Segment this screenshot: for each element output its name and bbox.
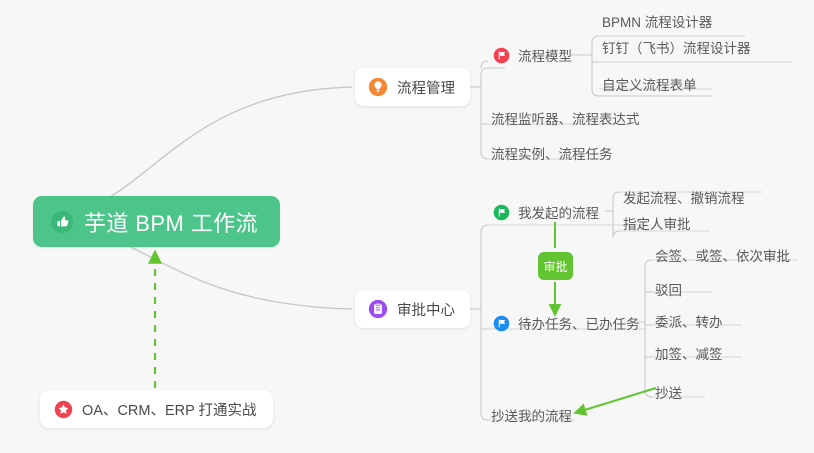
note-label: OA、CRM、ERP 打通实战 xyxy=(82,399,257,420)
branch-label-approval-center: 审批中心 xyxy=(397,299,455,320)
branch-label-process-management: 流程管理 xyxy=(397,77,455,98)
flag-icon xyxy=(493,315,510,332)
leaf-process-instance-task[interactable]: 流程实例、流程任务 xyxy=(491,145,613,165)
arrow-cc-flow xyxy=(578,388,656,412)
leaf-reject[interactable]: 驳回 xyxy=(655,281,682,301)
star-icon xyxy=(54,400,73,419)
leaf-delegate-transfer[interactable]: 委派、转办 xyxy=(655,313,723,333)
lightbulb-icon xyxy=(368,77,388,97)
approval-badge-label: 审批 xyxy=(543,258,567,275)
leaf-countersign-orsign-sequential[interactable]: 会签、或签、依次审批 xyxy=(655,247,790,267)
node-todo-done-tasks[interactable]: 待办任务、已办任务 xyxy=(493,312,640,334)
leaf-custom-process-form[interactable]: 自定义流程表单 xyxy=(602,76,697,96)
flag-icon xyxy=(493,204,510,221)
leaf-bpmn-designer[interactable]: BPMN 流程设计器 xyxy=(602,13,712,33)
leaf-add-remove-sign[interactable]: 加签、减签 xyxy=(655,345,723,365)
node-label-todo-done-tasks: 待办任务、已办任务 xyxy=(518,313,640,333)
leaf-cc-to-me-processes[interactable]: 抄送我的流程 xyxy=(491,407,572,427)
leaf-process-listener-expression[interactable]: 流程监听器、流程表达式 xyxy=(491,110,640,130)
clipboard-icon xyxy=(368,299,388,319)
flag-icon xyxy=(493,47,510,64)
leaf-assignee-approval[interactable]: 指定人审批 xyxy=(623,215,691,235)
thumbs-up-icon xyxy=(50,210,74,234)
root-label: 芋道 BPM 工作流 xyxy=(84,206,258,238)
node-my-initiated-processes[interactable]: 我发起的流程 xyxy=(493,201,599,223)
node-label-my-initiated-processes: 我发起的流程 xyxy=(518,202,599,222)
note-node[interactable]: OA、CRM、ERP 打通实战 xyxy=(40,390,273,428)
approval-badge: 审批 xyxy=(538,252,573,280)
leaf-dingtalk-feishu-designer[interactable]: 钉钉（飞书）流程设计器 xyxy=(602,39,751,59)
leaf-carbon-copy[interactable]: 抄送 xyxy=(655,384,682,404)
branch-node-approval-center[interactable]: 审批中心 xyxy=(355,290,470,328)
branch-node-process-management[interactable]: 流程管理 xyxy=(355,68,470,106)
node-process-model[interactable]: 流程模型 xyxy=(493,44,572,66)
node-label-process-model: 流程模型 xyxy=(518,45,572,65)
mindmap-canvas: 芋道 BPM 工作流 OA、CRM、ERP 打通实战 流程管理 审批中心 xyxy=(0,0,814,453)
leaf-start-cancel-process[interactable]: 发起流程、撤销流程 xyxy=(623,189,745,209)
root-node[interactable]: 芋道 BPM 工作流 xyxy=(33,196,280,247)
